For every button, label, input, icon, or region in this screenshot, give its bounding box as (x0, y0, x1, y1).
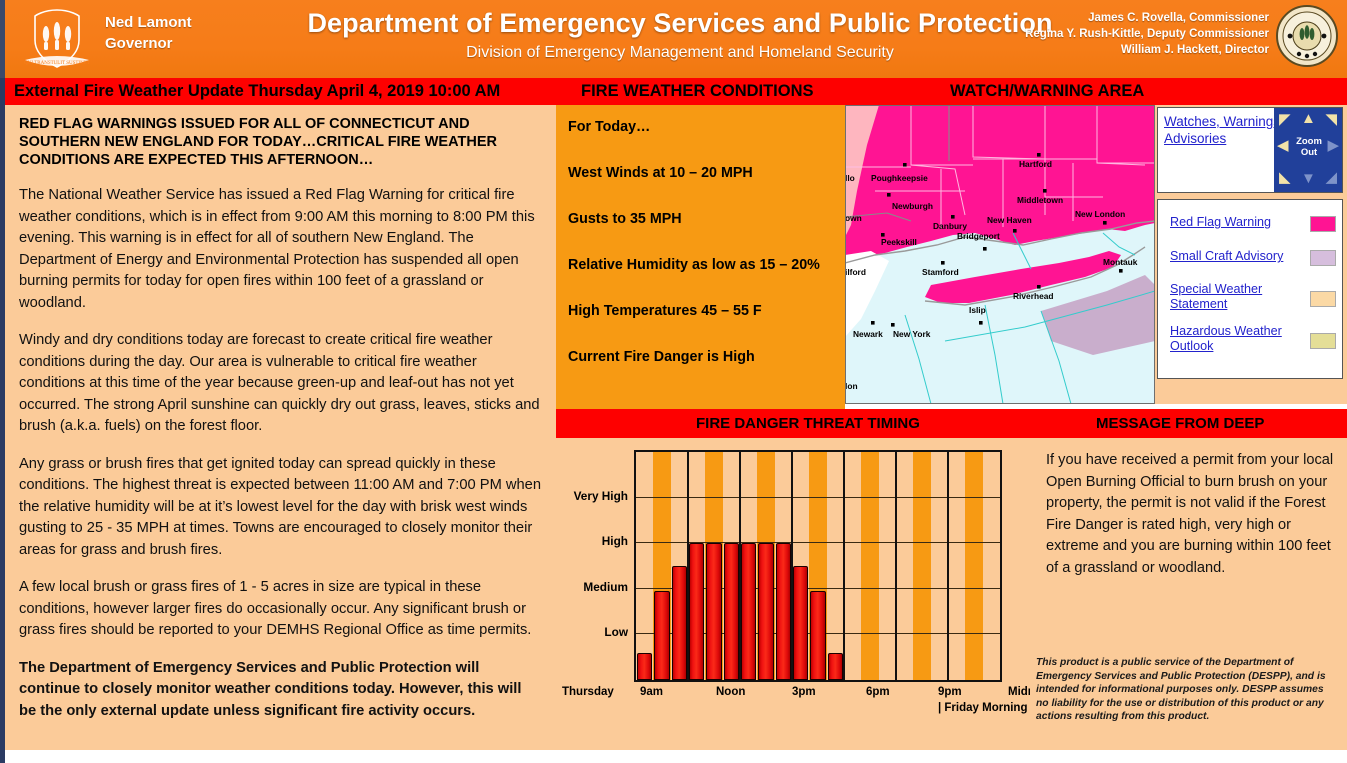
chart-plot-area (634, 450, 1002, 682)
watch-warning-area-title: WATCH/WARNING AREA (950, 82, 1144, 101)
chart-bar (724, 543, 739, 680)
chart-bar (689, 543, 704, 680)
chart-major-divider (895, 452, 897, 680)
svg-text:Middletown: Middletown (1017, 195, 1063, 205)
map-navigation-pad[interactable]: ◤ ▲ ◥ ◀ ▶ Zoom Out ◣ ▼ ◢ (1274, 108, 1342, 192)
legend-swatch-hazardous-weather-outlook (1310, 333, 1336, 349)
svg-text:Islip: Islip (969, 305, 986, 315)
chart-background-band (965, 452, 982, 680)
pan-northeast-icon[interactable]: ◥ (1325, 112, 1337, 127)
svg-text:llo: llo (845, 173, 855, 183)
chart-major-divider (947, 452, 949, 680)
page-header: QUI TRANSTULIT SUSTINET Ned Lamont Gover… (5, 0, 1347, 78)
message-from-deep-title: MESSAGE FROM DEEP (1096, 415, 1264, 432)
svg-text:own: own (845, 213, 862, 223)
narrative-paragraph-2: Windy and dry conditions today are forec… (19, 330, 542, 438)
pan-west-icon[interactable]: ◀ (1277, 138, 1289, 153)
legend-swatch-red-flag-warning (1310, 216, 1336, 232)
governor-block: Ned Lamont Governor (105, 12, 192, 54)
chart-background-band (861, 452, 878, 680)
chart-y-tick-low: Low (556, 625, 628, 639)
chart-x-tick-9am: 9am (640, 686, 663, 698)
pan-southwest-icon[interactable]: ◣ (1279, 170, 1291, 185)
despp-agency-seal-icon (1275, 4, 1339, 68)
chart-x-tick-9pm: 9pm (938, 686, 962, 698)
legend-swatch-special-weather-statement (1310, 291, 1336, 307)
chart-bar (828, 653, 843, 680)
fire-weather-conditions-panel: For Today… West Winds at 10 – 20 MPH Gus… (556, 105, 845, 404)
chart-y-tick-high: High (556, 534, 628, 548)
watch-warning-map[interactable]: Poughkeepsie Newburgh Peekskill Danbury … (845, 105, 1155, 404)
narrative-paragraph-1: The National Weather Service has issued … (19, 185, 542, 314)
svg-text:Danbury: Danbury (933, 221, 967, 231)
zoom-out-label[interactable]: Zoom Out (1292, 136, 1326, 158)
svg-text:Peekskill: Peekskill (881, 237, 917, 247)
legend-item-red-flag-warning[interactable]: Red Flag Warning (1170, 214, 1336, 232)
chart-x-tick-thursday: Thursday (562, 686, 614, 698)
official-commissioner: James C. Rovella, Commissioner (1025, 10, 1269, 26)
pan-northwest-icon[interactable]: ◤ (1279, 112, 1291, 127)
condition-humidity: Relative Humidity as low as 15 – 20% (568, 257, 845, 273)
fire-weather-conditions-title: FIRE WEATHER CONDITIONS (581, 82, 814, 101)
narrative-closing: The Department of Emergency Services and… (19, 658, 542, 723)
legend-label-hazardous-weather-outlook[interactable]: Hazardous Weather Outlook (1170, 324, 1288, 354)
connecticut-state-seal-icon: QUI TRANSTULIT SUSTINET (13, 4, 101, 74)
legend-header-box: Watches, Warnings & Advisories ◤ ▲ ◥ ◀ ▶… (1157, 107, 1343, 193)
chart-background-band (896, 452, 913, 680)
page-title: Department of Emergency Services and Pub… (215, 8, 1145, 39)
svg-text:Newburgh: Newburgh (892, 201, 933, 211)
svg-text:New York: New York (893, 329, 931, 339)
svg-text:Stamford: Stamford (922, 267, 959, 277)
chart-bar (654, 591, 669, 680)
legend-label-red-flag-warning[interactable]: Red Flag Warning (1170, 215, 1288, 230)
section-banner-top: External Fire Weather Update Thursday Ap… (5, 78, 1347, 105)
svg-text:Hartford: Hartford (1019, 159, 1052, 169)
svg-text:Riverhead: Riverhead (1013, 291, 1054, 301)
watch-warning-legend: Watches, Warnings & Advisories ◤ ▲ ◥ ◀ ▶… (1155, 105, 1347, 404)
svg-text:lon: lon (845, 381, 858, 391)
page-footer-accent (0, 750, 5, 763)
condition-wind: West Winds at 10 – 20 MPH (568, 165, 845, 181)
chart-x-axis-note: | Friday Morning (938, 702, 1027, 714)
chart-y-tick-very-high: Very High (556, 489, 628, 503)
svg-text:Newark: Newark (853, 329, 883, 339)
narrative-column: RED FLAG WARNINGS ISSUED FOR ALL OF CONN… (5, 105, 556, 750)
deep-disclaimer-text: This product is a public service of the … (1036, 656, 1336, 724)
page-footer-strip (0, 750, 1347, 763)
narrative-paragraph-4: A few local brush or grass fires of 1 - … (19, 577, 542, 642)
chart-background-band (827, 452, 844, 680)
section-banner-bottom: FIRE DANGER THREAT TIMING MESSAGE FROM D… (556, 409, 1347, 438)
legend-label-small-craft-advisory[interactable]: Small Craft Advisory (1170, 249, 1288, 264)
chart-bar (810, 591, 825, 680)
chart-y-tick-medium: Medium (556, 580, 628, 594)
governor-name: Ned Lamont (105, 12, 192, 33)
chart-x-tick-noon: Noon (716, 686, 745, 698)
condition-gusts: Gusts to 35 MPH (568, 211, 845, 227)
conditions-heading: For Today… (568, 119, 845, 135)
chart-bar (637, 653, 652, 680)
fire-danger-threat-timing-chart: LowMediumHighVery High Thursday9amNoon3p… (556, 438, 1030, 750)
condition-fire-danger: Current Fire Danger is High (568, 349, 845, 365)
chart-bar (672, 566, 687, 680)
pan-southeast-icon[interactable]: ◢ (1325, 170, 1337, 185)
pan-east-icon[interactable]: ▶ (1327, 138, 1339, 153)
official-deputy-commissioner: Regina Y. Rush-Kittle, Deputy Commission… (1025, 26, 1269, 42)
chart-major-divider (843, 452, 845, 680)
legend-items-box: Red Flag Warning Small Craft Advisory Sp… (1157, 199, 1343, 379)
narrative-paragraph-3: Any grass or brush fires that get ignite… (19, 454, 542, 562)
chart-bar (758, 543, 773, 680)
chart-gridline (636, 497, 1000, 498)
svg-text:Bridgeport: Bridgeport (957, 231, 1000, 241)
governor-title: Governor (105, 33, 192, 54)
svg-text:New Haven: New Haven (987, 215, 1032, 225)
chart-background-band (931, 452, 948, 680)
legend-item-hazardous-weather-outlook[interactable]: Hazardous Weather Outlook (1170, 324, 1336, 354)
svg-text:Montauk: Montauk (1103, 257, 1138, 267)
chart-background-band (879, 452, 896, 680)
chart-bar (741, 543, 756, 680)
svg-text:Poughkeepsie: Poughkeepsie (871, 173, 928, 183)
chart-bar (706, 543, 721, 680)
update-title: External Fire Weather Update Thursday Ap… (14, 82, 500, 101)
chart-background-band (913, 452, 930, 680)
chart-background-band (948, 452, 965, 680)
fire-danger-threat-timing-title: FIRE DANGER THREAT TIMING (696, 415, 920, 432)
svg-text:New London: New London (1075, 209, 1125, 219)
svg-text:QUI TRANSTULIT SUSTINET: QUI TRANSTULIT SUSTINET (24, 61, 90, 66)
conditions-list: For Today… West Winds at 10 – 20 MPH Gus… (556, 105, 845, 365)
pan-north-icon[interactable]: ▲ (1301, 111, 1316, 126)
official-director: William J. Hackett, Director (1025, 42, 1269, 58)
message-from-deep-panel: If you have received a permit from your … (1030, 438, 1347, 750)
chart-background-band (844, 452, 861, 680)
svg-text:ilford: ilford (845, 267, 866, 277)
legend-item-special-weather-statement[interactable]: Special Weather Statement (1170, 282, 1336, 312)
legend-label-special-weather-statement[interactable]: Special Weather Statement (1170, 282, 1288, 312)
chart-background-band (636, 452, 653, 680)
chart-x-tick-6pm: 6pm (866, 686, 890, 698)
chart-x-tick-3pm: 3pm (792, 686, 816, 698)
pan-south-icon[interactable]: ▼ (1301, 171, 1316, 186)
chart-background-band (983, 452, 1000, 680)
condition-temperature: High Temperatures 45 – 55 F (568, 303, 845, 319)
chart-bar (776, 543, 791, 680)
page-subtitle: Division of Emergency Management and Hom… (215, 44, 1145, 62)
legend-item-small-craft-advisory[interactable]: Small Craft Advisory (1170, 248, 1336, 266)
fire-weather-update-page: QUI TRANSTULIT SUSTINET Ned Lamont Gover… (0, 0, 1347, 763)
narrative-lead: RED FLAG WARNINGS ISSUED FOR ALL OF CONN… (19, 115, 542, 169)
chart-bar (793, 566, 808, 680)
legend-swatch-small-craft-advisory (1310, 250, 1336, 266)
deep-message-text: If you have received a permit from your … (1046, 450, 1336, 579)
officials-list: James C. Rovella, Commissioner Regina Y.… (1025, 10, 1269, 58)
